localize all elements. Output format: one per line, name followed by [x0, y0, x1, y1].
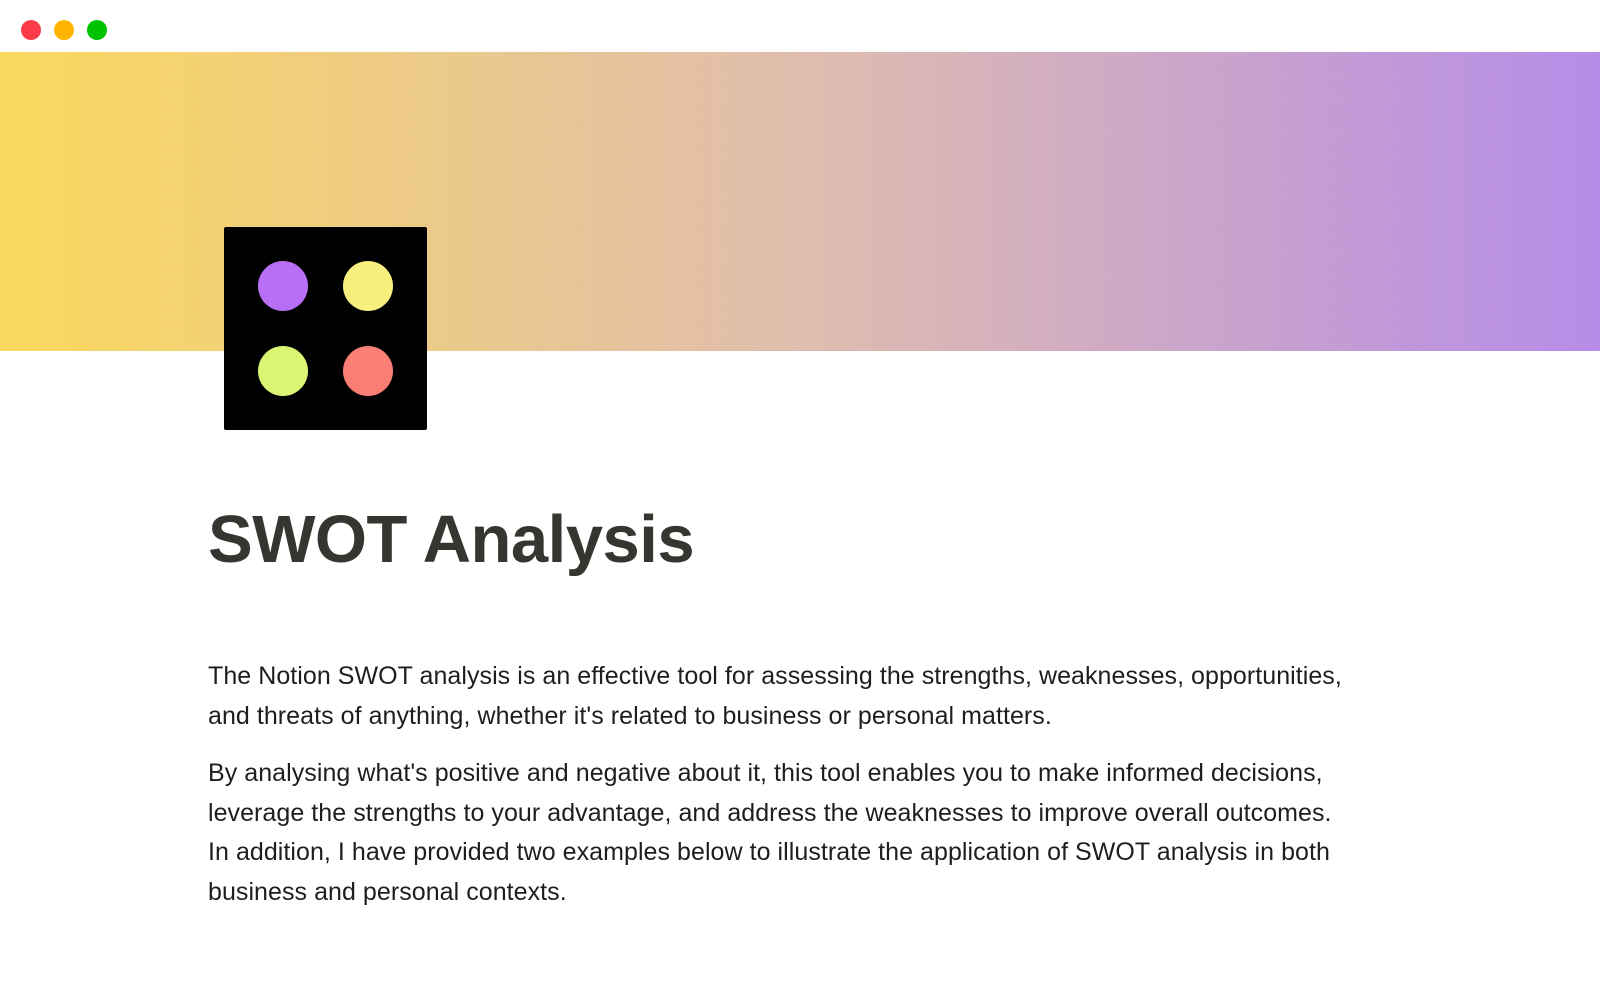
app-window: SWOT Analysis The Notion SWOT analysis i…	[0, 0, 1600, 1000]
paragraph-block[interactable]: By analysing what's positive and negativ…	[208, 754, 1358, 912]
minimize-window-button[interactable]	[54, 20, 74, 40]
window-titlebar	[0, 0, 1600, 52]
dot-top-left	[258, 261, 308, 311]
page-body: SWOT Analysis The Notion SWOT analysis i…	[208, 504, 1388, 912]
dot-top-right	[343, 261, 393, 311]
paragraph-block[interactable]: The Notion SWOT analysis is an effective…	[208, 657, 1358, 736]
page-title[interactable]: SWOT Analysis	[208, 504, 1388, 575]
page-paragraphs: The Notion SWOT analysis is an effective…	[208, 657, 1388, 912]
traffic-light-controls	[21, 20, 107, 40]
dot-bottom-right	[343, 346, 393, 396]
maximize-window-button[interactable]	[87, 20, 107, 40]
dot-bottom-left	[258, 346, 308, 396]
close-window-button[interactable]	[21, 20, 41, 40]
page-icon[interactable]	[224, 227, 427, 430]
